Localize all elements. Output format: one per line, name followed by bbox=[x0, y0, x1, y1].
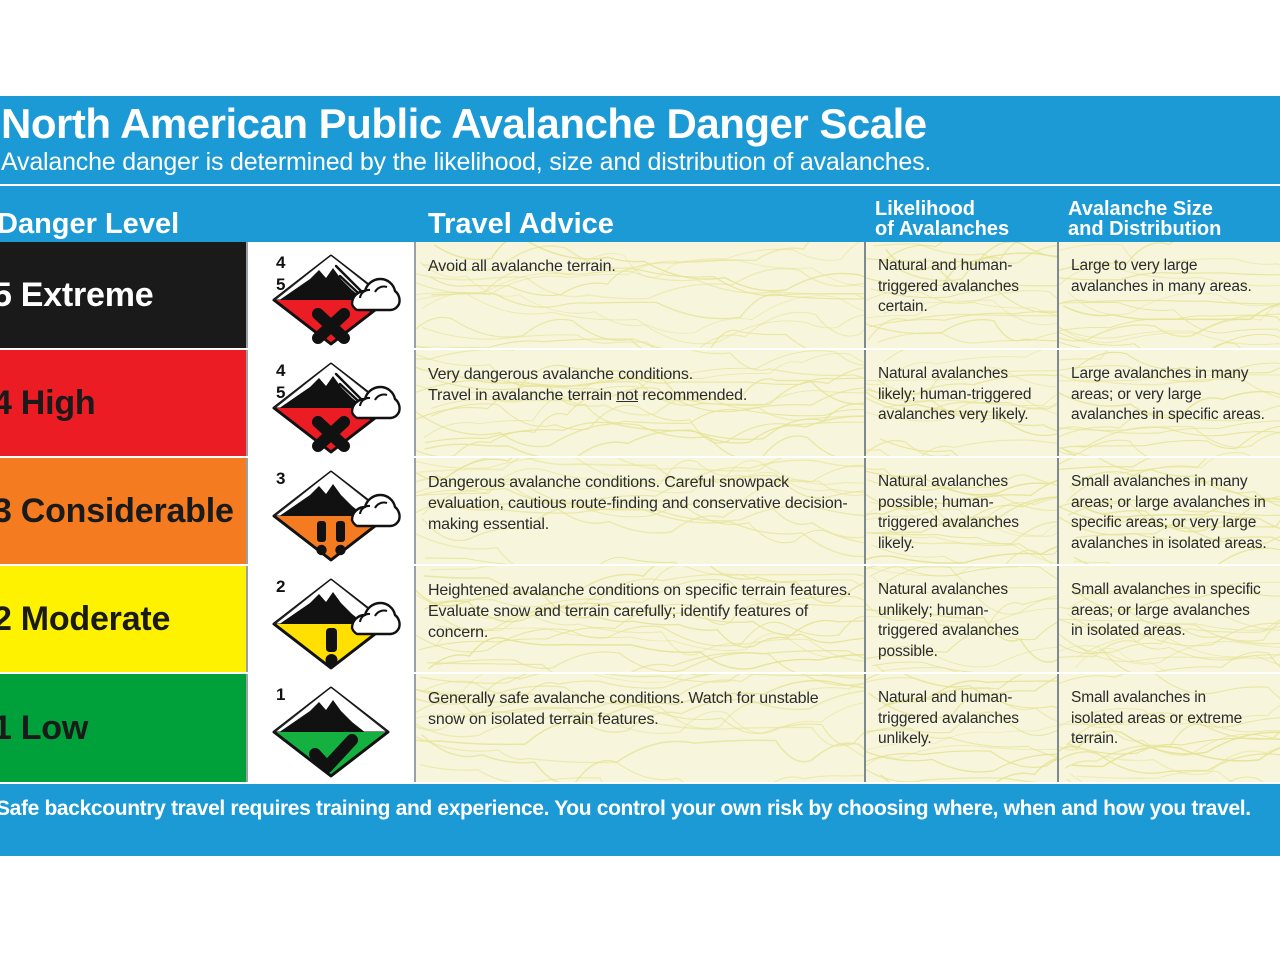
footer-text: Safe backcountry travel requires trainin… bbox=[0, 797, 1251, 821]
size-distribution-cell: Small avalanches in isolated areas or ex… bbox=[1059, 674, 1280, 782]
column-header-size-line1: Avalanche Size bbox=[1068, 199, 1221, 220]
likelihood-text: Natural avalanches unlikely; human-trigg… bbox=[878, 580, 1048, 662]
danger-icon-low: 1 bbox=[246, 674, 416, 782]
table-row: 4High 45 Very dangerous avalanche condit bbox=[0, 350, 1280, 458]
likelihood-text: Natural and human-triggered avalanches c… bbox=[878, 256, 1048, 318]
svg-text:4: 4 bbox=[276, 253, 286, 272]
danger-level-label: 5Extreme bbox=[0, 276, 154, 315]
travel-advice-cell: Generally safe avalanche conditions. Wat… bbox=[416, 674, 866, 782]
likelihood-cell: Natural and human-triggered avalanches u… bbox=[866, 674, 1059, 782]
danger-level-label: 1Low bbox=[0, 709, 88, 748]
likelihood-text: Natural and human-triggered avalanches u… bbox=[878, 688, 1048, 750]
table-row: 2Moderate 2 Heightened avalanche conditi… bbox=[0, 566, 1280, 674]
danger-level-cell-moderate: 2Moderate bbox=[0, 566, 246, 672]
danger-level-number: 3 bbox=[0, 492, 12, 530]
size-distribution-text: Large to very large avalanches in many a… bbox=[1071, 256, 1271, 297]
column-header-likelihood-line1: Likelihood bbox=[875, 199, 1009, 220]
travel-advice-cell: Dangerous avalanche conditions. Careful … bbox=[416, 458, 866, 564]
size-distribution-cell: Large to very large avalanches in many a… bbox=[1059, 242, 1280, 348]
likelihood-cell: Natural and human-triggered avalanches c… bbox=[866, 242, 1059, 348]
travel-advice-text: Dangerous avalanche conditions. Careful … bbox=[428, 472, 855, 535]
danger-icon-high: 45 bbox=[246, 350, 416, 456]
travel-advice-cell: Heightened avalanche conditions on speci… bbox=[416, 566, 866, 672]
danger-level-label: 2Moderate bbox=[0, 600, 170, 639]
size-distribution-cell: Small avalanches in many areas; or large… bbox=[1059, 458, 1280, 564]
travel-advice-text: Generally safe avalanche conditions. Wat… bbox=[428, 688, 855, 730]
size-distribution-text: Small avalanches in many areas; or large… bbox=[1071, 472, 1271, 554]
danger-level-cell-extreme: 5Extreme bbox=[0, 242, 246, 348]
svg-text:1: 1 bbox=[276, 685, 285, 704]
likelihood-cell: Natural avalanches likely; human-trigger… bbox=[866, 350, 1059, 456]
likelihood-text: Natural avalanches likely; human-trigger… bbox=[878, 364, 1048, 426]
size-distribution-cell: Small avalanches in specific areas; or l… bbox=[1059, 566, 1280, 672]
danger-icon-moderate: 2 bbox=[246, 566, 416, 672]
column-header-size-distribution: Avalanche Size and Distribution bbox=[1068, 199, 1221, 240]
danger-icon-extreme: 45 bbox=[246, 242, 416, 348]
danger-level-cell-considerable: 3Considerable bbox=[0, 458, 246, 564]
danger-level-number: 1 bbox=[0, 709, 12, 747]
column-header-danger-level: Danger Level bbox=[0, 210, 179, 240]
column-header-size-line2: and Distribution bbox=[1068, 219, 1221, 240]
svg-text:3: 3 bbox=[276, 469, 285, 488]
page-title: North American Public Avalanche Danger S… bbox=[1, 102, 1280, 147]
avalanche-danger-scale-poster: North American Public Avalanche Danger S… bbox=[0, 96, 1280, 856]
danger-level-name: Extreme bbox=[21, 276, 154, 314]
column-header-likelihood-line2: of Avalanches bbox=[875, 219, 1009, 240]
table-row: 3Considerable 3 Dangerous ava bbox=[0, 458, 1280, 566]
danger-level-name: Considerable bbox=[21, 492, 234, 530]
table-row: 5Extreme 45 Avoid all avalanche terrain. bbox=[0, 242, 1280, 350]
poster-header: North American Public Avalanche Danger S… bbox=[0, 96, 1280, 176]
danger-level-name: High bbox=[21, 384, 96, 422]
travel-advice-cell: Avoid all avalanche terrain. bbox=[416, 242, 866, 348]
danger-level-number: 2 bbox=[0, 600, 12, 638]
emphasis-not: not bbox=[616, 387, 638, 404]
danger-level-number: 5 bbox=[0, 276, 12, 314]
danger-level-name: Low bbox=[21, 709, 88, 747]
likelihood-text: Natural avalanches possible; human-trigg… bbox=[878, 472, 1048, 554]
page-subtitle: Avalanche danger is determined by the li… bbox=[1, 149, 1280, 177]
column-header-row: Danger Level Travel Advice Likelihood of… bbox=[0, 184, 1280, 242]
danger-level-number: 4 bbox=[0, 384, 12, 422]
danger-level-name: Moderate bbox=[21, 600, 171, 638]
likelihood-cell: Natural avalanches unlikely; human-trigg… bbox=[866, 566, 1059, 672]
poster-footer: Safe backcountry travel requires trainin… bbox=[0, 782, 1280, 834]
table-row: 1Low 1 Generally safe avalanche conditio… bbox=[0, 674, 1280, 782]
travel-advice-cell: Very dangerous avalanche conditions.Trav… bbox=[416, 350, 866, 456]
size-distribution-text: Small avalanches in isolated areas or ex… bbox=[1071, 688, 1271, 750]
danger-level-label: 3Considerable bbox=[0, 492, 234, 531]
travel-advice-text: Avoid all avalanche terrain. bbox=[428, 256, 855, 277]
column-header-travel-advice: Travel Advice bbox=[428, 210, 614, 240]
danger-level-cell-low: 1Low bbox=[0, 674, 246, 782]
danger-level-cell-high: 4High bbox=[0, 350, 246, 456]
travel-advice-text: Heightened avalanche conditions on speci… bbox=[428, 580, 855, 643]
size-distribution-text: Small avalanches in specific areas; or l… bbox=[1071, 580, 1271, 642]
size-distribution-text: Large avalanches in many areas; or very … bbox=[1071, 364, 1271, 426]
svg-text:2: 2 bbox=[276, 577, 285, 596]
column-header-likelihood: Likelihood of Avalanches bbox=[875, 199, 1009, 240]
travel-advice-text: Very dangerous avalanche conditions.Trav… bbox=[428, 364, 855, 406]
likelihood-cell: Natural avalanches possible; human-trigg… bbox=[866, 458, 1059, 564]
size-distribution-cell: Large avalanches in many areas; or very … bbox=[1059, 350, 1280, 456]
danger-scale-table: 5Extreme 45 Avoid all avalanche terrain. bbox=[0, 242, 1280, 782]
svg-text:4: 4 bbox=[276, 361, 286, 380]
danger-level-label: 4High bbox=[0, 384, 95, 423]
danger-icon-considerable: 3 bbox=[246, 458, 416, 564]
